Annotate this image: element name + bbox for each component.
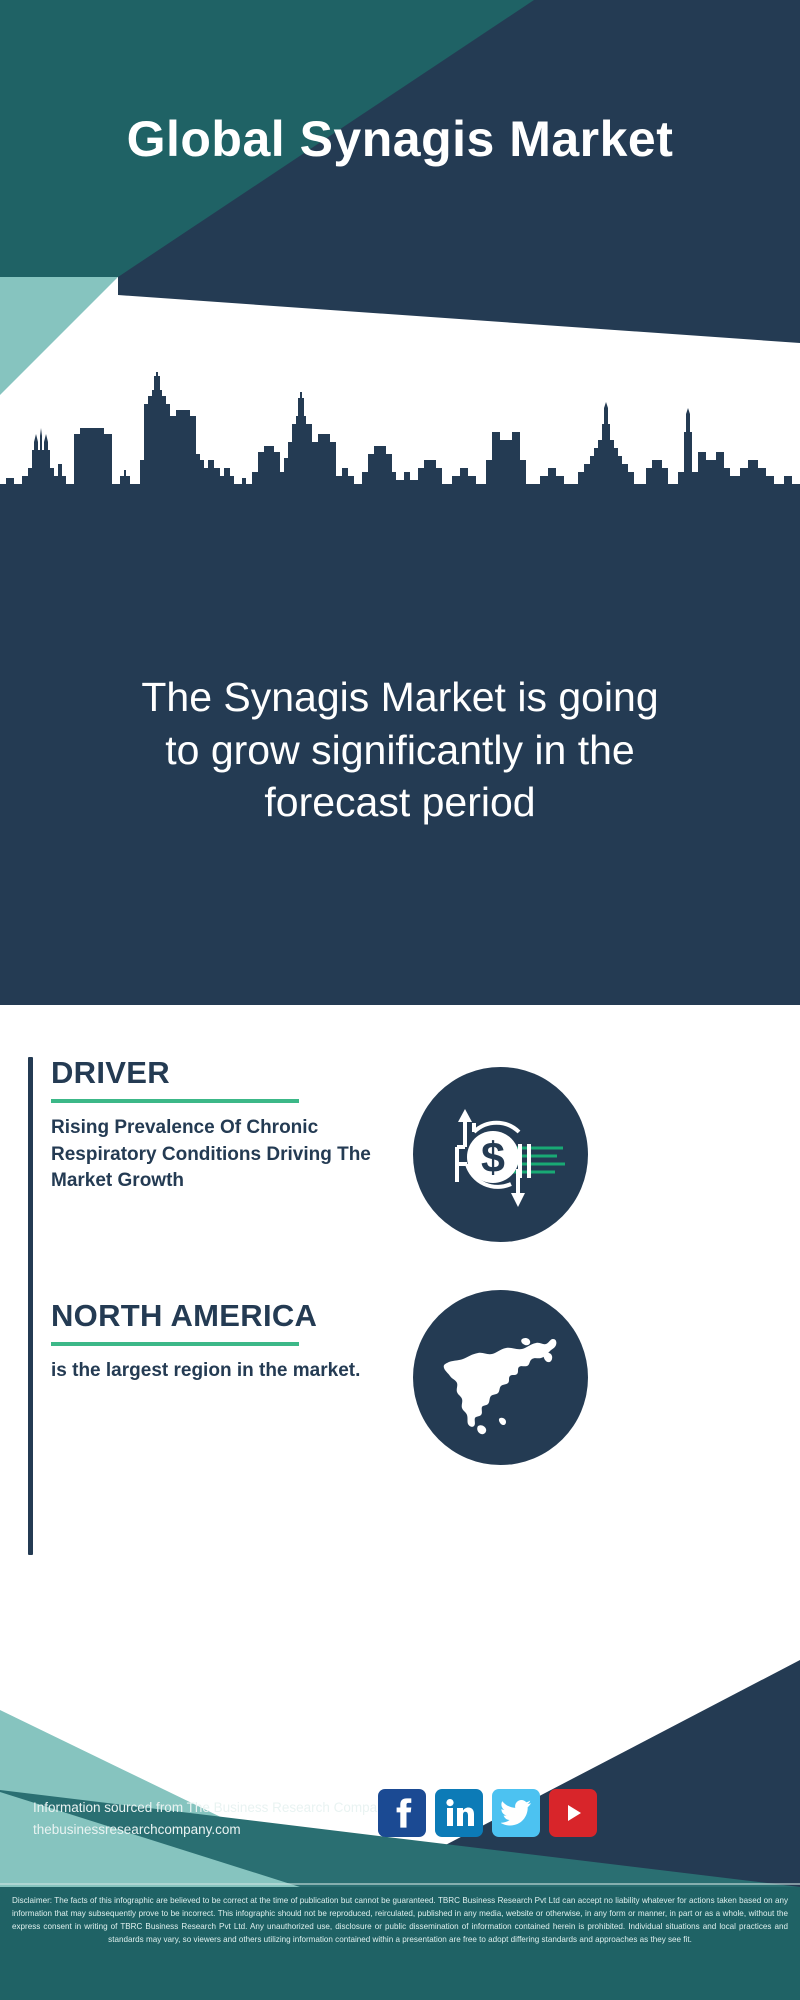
driver-description: Rising Prevalence Of Chronic Respiratory… [51,1115,420,1196]
dollar-growth-icon: $ [413,1067,588,1242]
driver-title: DRIVER [51,1057,420,1090]
skyline-band [0,277,800,507]
city-skyline-silhouette [0,372,800,507]
region-title: NORTH AMERICA [51,1300,420,1333]
disclaimer-block: Disclaimer: The facts of this infographi… [0,1887,800,2000]
youtube-icon[interactable] [549,1789,597,1837]
footer-source-block: Information sourced from The Business Re… [33,1797,391,1842]
footer-source-line: Information sourced from The Business Re… [33,1800,391,1815]
hero-quote-text: The Synagis Market is going to grow sign… [120,671,680,828]
footer-website-link[interactable]: thebusinessresearchcompany.com [33,1819,391,1841]
facebook-icon[interactable] [378,1789,426,1837]
disclaimer-text: Disclaimer: The facts of this infographi… [12,1894,788,1946]
driver-card: DRIVER Rising Prevalence Of Chronic Resp… [28,1057,420,1337]
page-title: Global Synagis Market [0,0,800,277]
svg-text:™: ™ [472,1822,475,1827]
svg-text:$: $ [481,1134,505,1182]
social-links: ™ [378,1789,597,1837]
region-description: is the largest region in the market. [51,1358,420,1385]
twitter-icon[interactable] [492,1789,540,1837]
content-section: DRIVER Rising Prevalence Of Chronic Resp… [0,1005,800,1655]
north-america-map-icon [413,1290,588,1465]
linkedin-icon[interactable]: ™ [435,1789,483,1837]
driver-underline [51,1099,299,1103]
band-navy-slope [0,277,800,347]
header-banner: Global Synagis Market [0,0,800,277]
hero-quote-section: The Synagis Market is going to grow sign… [0,495,800,1005]
region-card: NORTH AMERICA is the largest region in t… [28,1300,420,1555]
infographic-page: Global Synagis Market The Synagis Market… [0,0,800,2000]
footer-divider [0,1883,800,1885]
region-underline [51,1342,299,1346]
footer: Information sourced from The Business Re… [0,1655,800,2000]
